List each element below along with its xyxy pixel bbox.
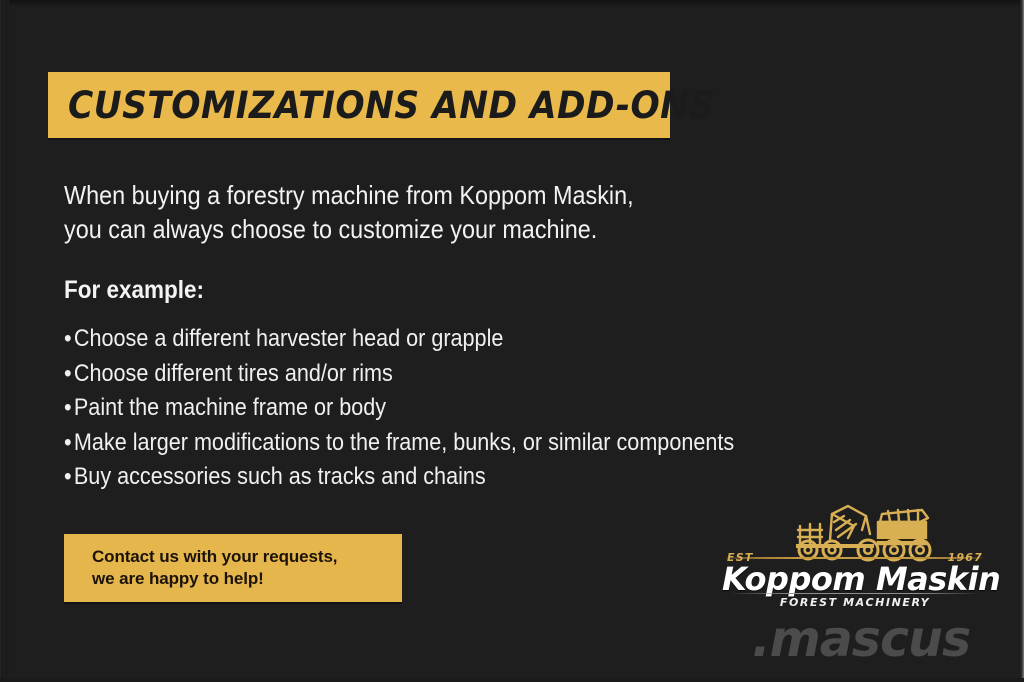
- list-item-label: Buy accessories such as tracks and chain…: [74, 463, 486, 490]
- bullet-dot-icon: •: [64, 357, 74, 392]
- image-edge-right: [1020, 0, 1024, 682]
- logo-est-label: EST: [722, 551, 759, 564]
- contact-line-2: we are happy to help!: [92, 568, 402, 590]
- contact-line-1: Contact us with your requests,: [92, 546, 402, 568]
- image-edge-bottom: [0, 678, 1024, 682]
- bullet-dot-icon: •: [64, 322, 74, 357]
- list-item-label: Make larger modifications to the frame, …: [74, 429, 734, 456]
- list-item: •Choose different tires and/or rims: [64, 357, 748, 392]
- logo-tagline-rule: [730, 593, 980, 594]
- slide-canvas: CUSTOMIZATIONS AND ADD-ONS When buying a…: [0, 0, 1024, 682]
- koppom-maskin-logo: EST 1967 Koppom Maskin FOREST MACHINERY: [722, 500, 988, 608]
- page-title: CUSTOMIZATIONS AND ADD-ONS: [68, 84, 715, 127]
- customization-options-list: •Choose a different harvester head or gr…: [64, 322, 824, 495]
- logo-year-label: 1967: [943, 551, 988, 564]
- list-item: •Buy accessories such as tracks and chai…: [64, 460, 748, 495]
- title-banner: CUSTOMIZATIONS AND ADD-ONS: [48, 72, 670, 138]
- list-item: •Choose a different harvester head or gr…: [64, 322, 748, 357]
- list-item-label: Paint the machine frame or body: [74, 394, 386, 421]
- mascus-watermark: .mascus: [752, 614, 970, 664]
- image-edge-top: [0, 0, 1024, 8]
- intro-line-2: you can always choose to customize your …: [64, 212, 730, 246]
- logo-tagline: FOREST MACHINERY: [722, 596, 988, 609]
- intro-line-1: When buying a forestry machine from Kopp…: [64, 178, 730, 212]
- list-item: •Paint the machine frame or body: [64, 391, 748, 426]
- contact-cta-box[interactable]: Contact us with your requests, we are ha…: [64, 534, 402, 602]
- list-item: •Make larger modifications to the frame,…: [64, 426, 748, 461]
- for-example-label: For example:: [64, 276, 204, 305]
- list-item-label: Choose a different harvester head or gra…: [74, 325, 503, 352]
- image-edge-left: [0, 0, 9, 682]
- intro-paragraph: When buying a forestry machine from Kopp…: [64, 178, 730, 246]
- bullet-dot-icon: •: [64, 460, 74, 495]
- list-item-label: Choose different tires and/or rims: [74, 360, 393, 387]
- bullet-dot-icon: •: [64, 391, 74, 426]
- bullet-dot-icon: •: [64, 426, 74, 461]
